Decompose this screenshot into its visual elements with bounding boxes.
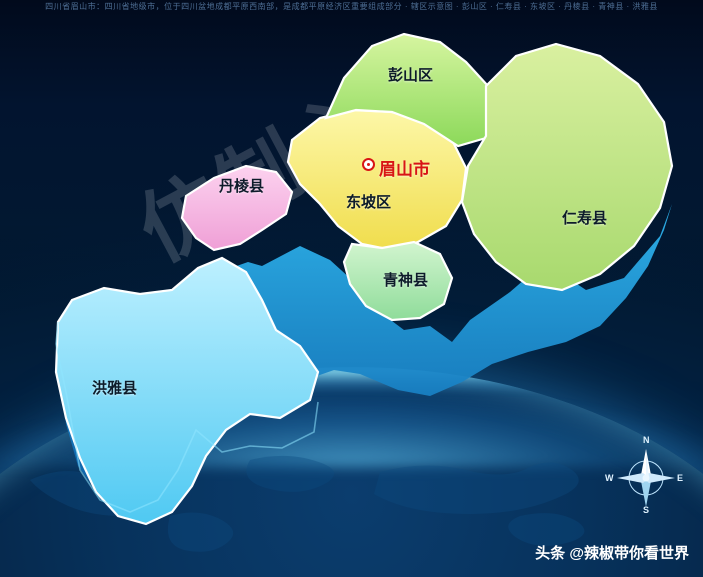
region-label-renshou: 仁寿县 <box>562 207 607 228</box>
compass-rose: N S W E <box>607 437 685 515</box>
author-name: @辣椒带你看世界 <box>569 545 689 562</box>
capital-dot-icon <box>362 158 375 171</box>
capital-label-meishan: 眉山市 <box>379 155 430 180</box>
map-screenshot: 四川省眉山市：四川省地级市，位于四川盆地成都平原西南部，是成都平原经济区重要组成… <box>0 0 703 577</box>
compass-south-label: S <box>643 505 649 515</box>
compass-west-label: W <box>605 473 614 483</box>
region-label-danleng: 丹棱县 <box>219 175 264 196</box>
compass-icon <box>607 437 685 515</box>
region-renshou <box>462 44 672 290</box>
top-banner-text: 四川省眉山市：四川省地级市，位于四川盆地成都平原西南部，是成都平原经济区重要组成… <box>0 0 703 14</box>
platform-name: 头条 <box>535 545 565 562</box>
credit-line: 头条 @辣椒带你看世界 <box>535 542 689 563</box>
region-label-dongpo: 东坡区 <box>346 191 391 212</box>
region-label-hongya: 洪雅县 <box>92 377 137 398</box>
region-label-pengshan: 彭山区 <box>388 64 433 85</box>
compass-east-label: E <box>677 473 683 483</box>
compass-north-label: N <box>643 435 650 445</box>
mianshan-administrative-map <box>0 0 703 577</box>
region-label-qingshen: 青神县 <box>383 269 428 290</box>
